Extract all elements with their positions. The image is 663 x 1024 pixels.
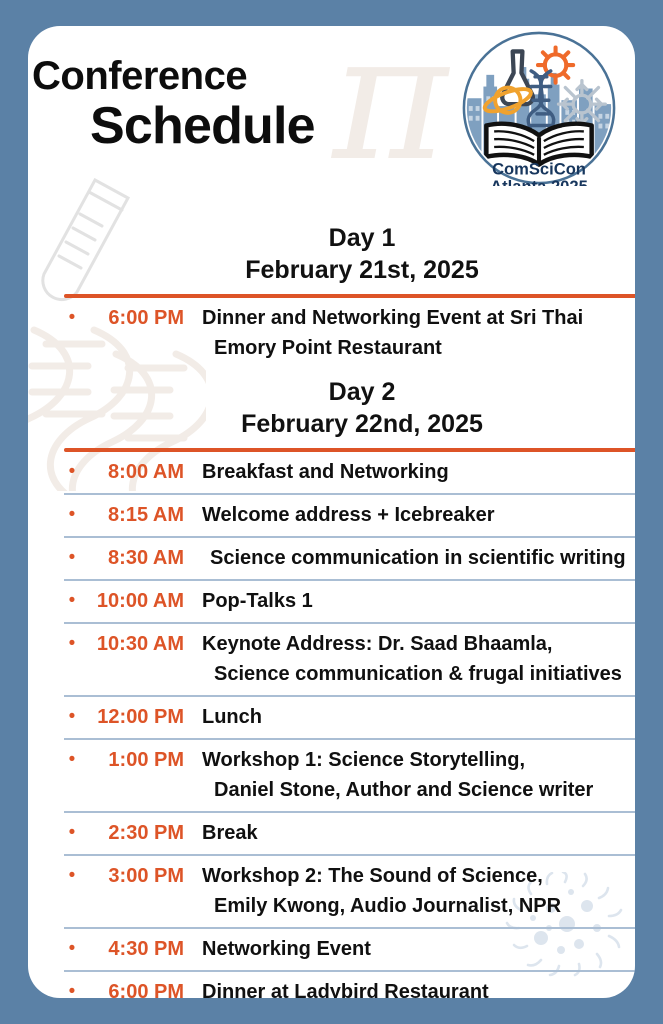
- day-1-heading: Day 1 February 21st, 2025: [64, 222, 635, 286]
- row-description: Lunch: [184, 702, 635, 732]
- schedule-row[interactable]: •10:00 AMPop-Talks 1: [64, 581, 635, 622]
- row-description-line1: Keynote Address: Dr. Saad Bhaamla,: [202, 633, 553, 655]
- row-description-line1: Dinner at Ladybird Restaurant: [202, 981, 489, 998]
- row-description-line1: Workshop 2: The Sound of Science,: [202, 865, 543, 887]
- bullet-icon: •: [64, 745, 80, 775]
- row-description: Keynote Address: Dr. Saad Bhaamla,Scienc…: [184, 629, 635, 689]
- bullet-icon: •: [64, 586, 80, 616]
- row-description-line2: Emory Point Restaurant: [202, 333, 635, 363]
- row-time: 8:15 AM: [80, 500, 184, 530]
- row-description: Break: [184, 818, 635, 848]
- conference-schedule-poster: π: [0, 0, 663, 1024]
- day-1-name: Day 1: [64, 222, 635, 254]
- logo-name-line1: ComSciCon: [492, 159, 586, 178]
- schedule-row[interactable]: •4:30 PMNetworking Event: [64, 929, 635, 970]
- row-time: 2:30 PM: [80, 818, 184, 848]
- bullet-icon: •: [64, 303, 80, 333]
- row-description: Science communication in scientific writ…: [184, 543, 635, 573]
- logo-name-line2: Atlanta 2025: [490, 177, 588, 186]
- row-time: 6:00 PM: [80, 303, 184, 333]
- row-description-line1: Dinner and Networking Event at Sri Thai: [202, 307, 583, 329]
- schedule-row[interactable]: • 6:00 PM Dinner and Networking Event at…: [64, 298, 635, 369]
- bullet-icon: •: [64, 934, 80, 964]
- schedule-row[interactable]: •8:15 AMWelcome address + Icebreaker: [64, 495, 635, 536]
- schedule-row[interactable]: •3:00 PMWorkshop 2: The Sound of Science…: [64, 856, 635, 927]
- day-2-rows: •8:00 AMBreakfast and Networking•8:15 AM…: [64, 452, 635, 998]
- bullet-icon: •: [64, 818, 80, 848]
- title-schedule: Schedule: [28, 99, 635, 154]
- day-2-heading: Day 2 February 22nd, 2025: [64, 376, 635, 440]
- bullet-icon: •: [64, 543, 80, 573]
- bullet-icon: •: [64, 629, 80, 659]
- row-description: Workshop 1: Science Storytelling,Daniel …: [184, 745, 635, 805]
- day-1-rows: • 6:00 PM Dinner and Networking Event at…: [64, 298, 635, 369]
- poster-card: π: [28, 26, 635, 998]
- row-description-line2: Emily Kwong, Audio Journalist, NPR: [202, 891, 635, 921]
- day-1-section: Day 1 February 21st, 2025 • 6:00 PM Dinn…: [64, 222, 635, 369]
- row-time: 6:00 PM: [80, 977, 184, 998]
- schedule-row[interactable]: •6:00 PMDinner at Ladybird Restaurant: [64, 972, 635, 998]
- day-2-section: Day 2 February 22nd, 2025 •8:00 AMBreakf…: [64, 376, 635, 998]
- row-description: Dinner and Networking Event at Sri Thai …: [184, 303, 635, 363]
- row-description: Welcome address + Icebreaker: [184, 500, 635, 530]
- row-description-line1: Break: [202, 822, 258, 844]
- title-conference: Conference: [32, 54, 635, 99]
- day-1-date: February 21st, 2025: [64, 254, 635, 286]
- row-description-line2: Daniel Stone, Author and Science writer: [202, 775, 635, 805]
- row-description-line1: Welcome address + Icebreaker: [202, 504, 495, 526]
- day-2-date: February 22nd, 2025: [64, 408, 635, 440]
- schedule-row[interactable]: •10:30 AMKeynote Address: Dr. Saad Bhaam…: [64, 624, 635, 695]
- row-description: Dinner at Ladybird Restaurant: [184, 977, 635, 998]
- schedule-row[interactable]: •12:00 PMLunch: [64, 697, 635, 738]
- row-description-line2: Science communication & frugal initiativ…: [202, 659, 635, 689]
- row-description-line1: Pop-Talks 1: [202, 590, 313, 612]
- row-time: 1:00 PM: [80, 745, 184, 775]
- schedule-row[interactable]: •8:30 AMScience communication in scienti…: [64, 538, 635, 579]
- bullet-icon: •: [64, 457, 80, 487]
- day-2-name: Day 2: [64, 376, 635, 408]
- row-description-line1: Workshop 1: Science Storytelling,: [202, 749, 525, 771]
- row-time: 8:30 AM: [80, 543, 184, 573]
- row-time: 10:00 AM: [80, 586, 184, 616]
- row-time: 3:00 PM: [80, 861, 184, 891]
- bullet-icon: •: [64, 861, 80, 891]
- row-description: Pop-Talks 1: [184, 586, 635, 616]
- row-description-line1: Networking Event: [202, 938, 371, 960]
- row-description-line1: Breakfast and Networking: [202, 461, 449, 483]
- schedule-row[interactable]: •8:00 AMBreakfast and Networking: [64, 452, 635, 493]
- schedule-row[interactable]: •2:30 PMBreak: [64, 813, 635, 854]
- row-description-line1: Lunch: [202, 706, 262, 728]
- row-time: 10:30 AM: [80, 629, 184, 659]
- row-time: 4:30 PM: [80, 934, 184, 964]
- row-time: 12:00 PM: [80, 702, 184, 732]
- bullet-icon: •: [64, 702, 80, 732]
- row-description: Workshop 2: The Sound of Science,Emily K…: [184, 861, 635, 921]
- row-description: Networking Event: [184, 934, 635, 964]
- bullet-icon: •: [64, 500, 80, 530]
- row-description: Breakfast and Networking: [184, 457, 635, 487]
- schedule-row[interactable]: •1:00 PMWorkshop 1: Science Storytelling…: [64, 740, 635, 811]
- bullet-icon: •: [64, 977, 80, 998]
- page-title: Conference Schedule: [28, 54, 635, 153]
- row-description-line1: Science communication in scientific writ…: [210, 547, 626, 569]
- row-time: 8:00 AM: [80, 457, 184, 487]
